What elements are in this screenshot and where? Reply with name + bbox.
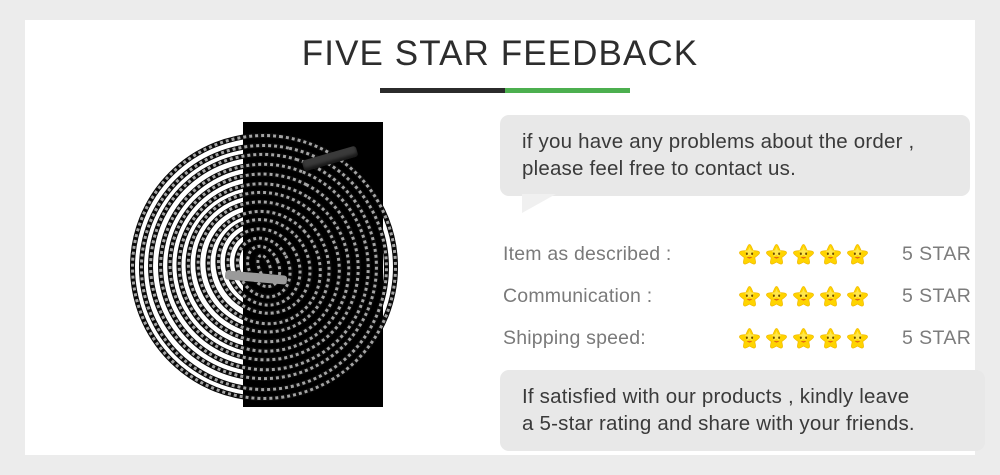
star-icon (819, 243, 842, 266)
rating-stars-communication (738, 285, 878, 308)
star-icon (738, 327, 761, 350)
product-image (110, 105, 470, 425)
star-icon (819, 285, 842, 308)
star-icon (846, 243, 869, 266)
rating-stars-item-as-described (738, 243, 878, 266)
star-icon (765, 243, 788, 266)
star-icon (846, 285, 869, 308)
rating-row: Item as described : 5 STAR (503, 233, 1000, 275)
star-icon (792, 327, 815, 350)
contact-message-line-2: please feel free to contact us. (522, 155, 950, 182)
star-icon (765, 327, 788, 350)
star-icon (846, 327, 869, 350)
rating-value-item-as-described: 5 STAR (878, 243, 971, 266)
white-card: FIVE STAR FEEDBACK if you have any probl… (25, 20, 975, 455)
star-icon (792, 243, 815, 266)
leave-rating-message-bubble: If satisfied with our products , kindly … (500, 370, 985, 451)
divider-green-segment (505, 88, 630, 93)
rating-row: Communication : 5 STAR (503, 275, 1000, 317)
rating-label-communication: Communication : (503, 285, 738, 308)
leave-rating-line-1: If satisfied with our products , kindly … (522, 383, 965, 410)
leave-rating-line-2: a 5-star rating and share with your frie… (522, 410, 965, 437)
contact-message-line-1: if you have any problems about the order… (522, 128, 950, 155)
rating-label-shipping-speed: Shipping speed: (503, 327, 738, 350)
divider-dark-segment (380, 88, 505, 93)
rating-value-shipping-speed: 5 STAR (878, 327, 971, 350)
ratings-list: Item as described : 5 STAR Communication… (503, 233, 1000, 359)
bubble-tail-icon (522, 194, 556, 213)
star-icon (819, 327, 842, 350)
rating-stars-shipping-speed (738, 327, 878, 350)
rating-label-item-as-described: Item as described : (503, 243, 738, 266)
contact-message-bubble: if you have any problems about the order… (500, 115, 970, 196)
title-divider (380, 88, 630, 93)
shoelace-coil-illustration (130, 133, 398, 401)
feedback-banner: FIVE STAR FEEDBACK if you have any probl… (0, 0, 1000, 475)
rating-row: Shipping speed: 5 STAR (503, 317, 1000, 359)
feedback-content: if you have any problems about the order… (475, 115, 985, 445)
header: FIVE STAR FEEDBACK (25, 20, 975, 110)
star-icon (765, 285, 788, 308)
page-title: FIVE STAR FEEDBACK (25, 34, 975, 74)
star-icon (738, 243, 761, 266)
star-icon (738, 285, 761, 308)
rating-value-communication: 5 STAR (878, 285, 971, 308)
star-icon (792, 285, 815, 308)
